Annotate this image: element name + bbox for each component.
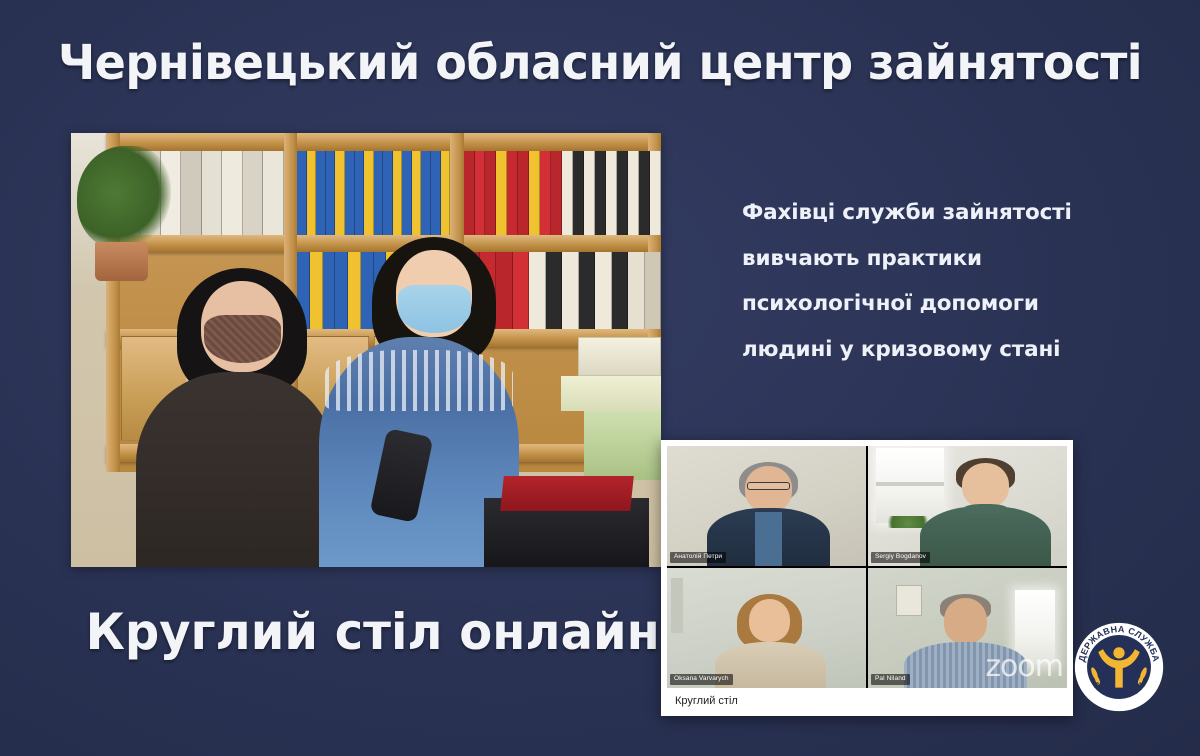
poster-canvas: Чернівецький обласний центр зайнятості: [0, 0, 1200, 756]
page-title: Чернівецький обласний центр зайнятості: [24, 38, 1176, 88]
description-line-1: Фахівці служби зайнятості: [742, 190, 1162, 236]
zoom-participant-grid: Анатолій Петри Sergiy Bogdanov: [667, 446, 1067, 688]
zoom-participant-name-2: Sergiy Bogdanov: [871, 552, 930, 563]
subtitle-caption: Круглий стіл онлайн: [86, 606, 643, 659]
agency-logo: ДЕРЖАВНА СЛУЖБА ЗАЙНЯТОСТІ: [1072, 620, 1166, 714]
person-left-body: [136, 372, 337, 567]
red-notebook: [500, 476, 633, 511]
zoom-meeting-window: Анатолій Петри Sergiy Bogdanov: [661, 440, 1073, 716]
person-left-mask: [204, 315, 281, 363]
main-photo-scene: [71, 133, 661, 567]
zoom-participant-name-1: Анатолій Петри: [670, 552, 726, 563]
sweater-pattern: [325, 350, 514, 411]
description-text: Фахівці служби зайнятості вивчають практ…: [742, 190, 1162, 372]
zoom-tile-participant-3[interactable]: Oksana Varvarych: [667, 568, 866, 688]
zoom-meeting-title: Круглий стіл: [675, 695, 738, 707]
zoom-participant-name-4: Pal Niland: [871, 674, 910, 685]
zoom-participant-name-3: Oksana Varvarych: [670, 674, 733, 685]
description-line-2: вивчають практики: [742, 236, 1162, 282]
zoom-tile-participant-1[interactable]: Анатолій Петри: [667, 446, 866, 566]
description-line-3: психологічної допомоги: [742, 281, 1162, 327]
zoom-tile-participant-2[interactable]: Sergiy Bogdanov: [868, 446, 1067, 566]
description-line-4: людині у кризовому стані: [742, 327, 1162, 373]
zoom-meeting-bar: Круглий стіл: [667, 688, 1067, 714]
zoom-tile-participant-4[interactable]: zoom Pal Niland: [868, 568, 1067, 688]
main-photo: [71, 133, 661, 567]
person-right-mask: [398, 285, 471, 333]
